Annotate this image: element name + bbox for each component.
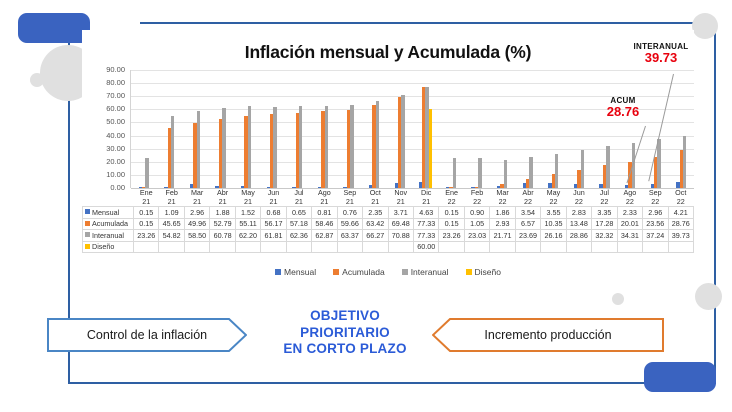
table-cell: 10.35: [541, 218, 566, 230]
objective-banner: Control de la inflación OBJETIVO PRIORIT…: [0, 300, 732, 382]
column-header-year: 21: [337, 197, 362, 207]
table-cell: [184, 241, 209, 253]
legend-label: Acumulada: [342, 267, 385, 277]
table-cell: [210, 241, 235, 253]
table-cell: 70.88: [388, 230, 413, 242]
y-axis: 90.0080.0070.0060.0050.0040.0030.0020.00…: [82, 70, 128, 188]
bar-interanual: [273, 107, 276, 188]
bar-slot: [592, 70, 618, 188]
table-cell: [312, 241, 337, 253]
table-cell: [617, 241, 642, 253]
y-axis-tick: 20.00: [106, 158, 125, 166]
bar-interanual: [504, 160, 507, 188]
bar-interanual: [350, 105, 353, 188]
column-header-year: 22: [668, 197, 693, 207]
table-cell: 32.32: [592, 230, 617, 242]
bar-interanual: [299, 106, 302, 188]
bar-interanual: [581, 150, 584, 188]
legend-swatch-icon: [402, 269, 408, 275]
slide-canvas: Inflación mensual y Acumulada (%) 90.008…: [0, 0, 732, 412]
legend-swatch-icon: [466, 269, 472, 275]
column-header-year: 21: [261, 197, 286, 207]
table-cell: 28.76: [668, 218, 693, 230]
y-axis-tick: 60.00: [106, 105, 125, 113]
table-cell: 0.65: [286, 207, 311, 219]
table-cell: [515, 241, 540, 253]
plot-canvas: [130, 70, 694, 188]
chart-data-table: EneFebMarAbrMayJunJulAgoSepOctNovDicEneF…: [82, 188, 694, 253]
column-header-year: 22: [643, 197, 668, 207]
table-cell: 63.42: [363, 218, 388, 230]
column-header-year: 21: [363, 197, 388, 207]
table-cell: 77.33: [413, 218, 438, 230]
table-cell: 0.15: [134, 218, 159, 230]
table-cell: 2.35: [363, 207, 388, 219]
table-header-month-row: EneFebMarAbrMayJunJulAgoSepOctNovDicEneF…: [83, 188, 694, 197]
table-cell: 45.65: [159, 218, 184, 230]
column-header-month: Jun: [566, 188, 591, 197]
table-cell: 3.54: [515, 207, 540, 219]
bar-interanual: [376, 101, 379, 188]
table-row-label: Diseño: [83, 241, 134, 253]
bar-slot: [438, 70, 464, 188]
y-axis-tick: 50.00: [106, 118, 125, 126]
table-cell: 23.69: [515, 230, 540, 242]
column-header-month: Sep: [337, 188, 362, 197]
table-cell: 20.01: [617, 218, 642, 230]
table-cell: 61.81: [261, 230, 286, 242]
table-header-year-row: 2121212121212121212121212222222222222222…: [83, 197, 694, 207]
table-cell: 62.20: [235, 230, 260, 242]
column-header-month: Dic: [413, 188, 438, 197]
column-header-year: 22: [490, 197, 515, 207]
column-header-month: Oct: [668, 188, 693, 197]
column-header-year: 21: [286, 197, 311, 207]
bar-interanual: [145, 158, 148, 188]
y-axis-tick: 10.00: [106, 171, 125, 179]
column-header-year: 21: [159, 197, 184, 207]
legend-item[interactable]: Diseño: [466, 267, 501, 277]
bar-interanual: [683, 136, 686, 188]
column-header-year: 22: [541, 197, 566, 207]
column-header-year: 22: [617, 197, 642, 207]
corner-tab-top-left: [18, 13, 90, 43]
table-cell: 1.86: [490, 207, 515, 219]
bar-slot: [515, 70, 541, 188]
table-row-label: Mensual: [83, 207, 134, 219]
table-cell: [261, 241, 286, 253]
bar-slot: [336, 70, 362, 188]
annotation-acum-value: 28.76: [590, 105, 656, 119]
table-cell: 3.71: [388, 207, 413, 219]
table-cell: 2.83: [566, 207, 591, 219]
column-header-month: Ene: [134, 188, 159, 197]
table-cell: [159, 241, 184, 253]
table-cell: 66.27: [363, 230, 388, 242]
column-header-month: Mar: [184, 188, 209, 197]
table-cell: 60.78: [210, 230, 235, 242]
column-header-year: 22: [464, 197, 489, 207]
bar-slot: [131, 70, 157, 188]
table-cell: [134, 241, 159, 253]
y-axis-tick: 70.00: [106, 92, 125, 100]
bar-interanual: [325, 106, 328, 188]
control-inflacion-callout[interactable]: Control de la inflación: [47, 318, 247, 352]
frame-top-line: [140, 22, 716, 24]
table-corner-cell: [83, 197, 134, 207]
table-cell: [566, 241, 591, 253]
table-row-label: Acumulada: [83, 218, 134, 230]
legend-label: Diseño: [475, 267, 501, 277]
bar-interanual: [171, 116, 174, 188]
bar-slot: [182, 70, 208, 188]
table-cell: 4.63: [413, 207, 438, 219]
table-cell: [490, 241, 515, 253]
column-header-month: Abr: [210, 188, 235, 197]
bar-slot: [233, 70, 259, 188]
table-cell: 13.48: [566, 218, 591, 230]
table-cell: [643, 241, 668, 253]
table-cell: [541, 241, 566, 253]
table-cell: 56.17: [261, 218, 286, 230]
bar-diseno: [429, 109, 432, 188]
control-inflacion-label: Control de la inflación: [87, 328, 207, 342]
bar-interanual: [401, 95, 404, 188]
y-axis-tick: 80.00: [106, 79, 125, 87]
incremento-produccion-callout[interactable]: Incremento producción: [432, 318, 664, 352]
column-header-year: 21: [413, 197, 438, 207]
table-cell: 21.71: [490, 230, 515, 242]
table-cell: 1.09: [159, 207, 184, 219]
table-cell: 60.00: [413, 241, 438, 253]
table-cell: 34.31: [617, 230, 642, 242]
table-cell: 1.88: [210, 207, 235, 219]
table-cell: 54.82: [159, 230, 184, 242]
decorative-circle-small: [30, 73, 44, 87]
table-row: Diseño60.00: [83, 241, 694, 253]
table-cell: 28.86: [566, 230, 591, 242]
table-cell: 59.66: [337, 218, 362, 230]
legend-swatch-icon: [333, 269, 339, 275]
table-cell: 1.05: [464, 218, 489, 230]
bar-slot: [464, 70, 490, 188]
table-cell: 62.36: [286, 230, 311, 242]
table-cell: 39.73: [668, 230, 693, 242]
table-cell: 6.57: [515, 218, 540, 230]
frame-bottom-line: [68, 382, 716, 384]
bar-group: [131, 70, 694, 188]
bar-slot: [208, 70, 234, 188]
table-cell: 77.33: [413, 230, 438, 242]
column-header-year: 21: [312, 197, 337, 207]
series-swatch-icon: [85, 209, 90, 214]
column-header-month: May: [541, 188, 566, 197]
table-cell: 2.96: [184, 207, 209, 219]
bar-interanual: [529, 157, 532, 188]
table-cell: 58.50: [184, 230, 209, 242]
column-header-month: Oct: [363, 188, 388, 197]
bar-slot: [310, 70, 336, 188]
column-header-month: Nov: [388, 188, 413, 197]
table-cell: 62.87: [312, 230, 337, 242]
table-cell: 23.56: [643, 218, 668, 230]
bar-slot: [643, 70, 669, 188]
series-swatch-icon: [85, 232, 90, 237]
column-header-month: Ago: [312, 188, 337, 197]
table-cell: 69.48: [388, 218, 413, 230]
y-axis-tick: 30.00: [106, 145, 125, 153]
column-header-year: 21: [134, 197, 159, 207]
bar-slot: [489, 70, 515, 188]
annotation-interanual: INTERANUAL 39.73: [616, 42, 706, 65]
column-header-month: Abr: [515, 188, 540, 197]
plot-area: 90.0080.0070.0060.0050.0040.0030.0020.00…: [82, 70, 694, 188]
incremento-produccion-label: Incremento producción: [484, 328, 611, 342]
chart-container: Inflación mensual y Acumulada (%) 90.008…: [82, 30, 694, 292]
table-corner-cell: [83, 188, 134, 197]
objetivo-prioritario-text: OBJETIVO PRIORITARIO EN CORTO PLAZO: [255, 308, 435, 358]
table-cell: 0.68: [261, 207, 286, 219]
objetivo-line-2: PRIORITARIO: [255, 325, 435, 342]
table-cell: 52.79: [210, 218, 235, 230]
table-row: Acumulada0.1545.6549.9652.7955.1156.1757…: [83, 218, 694, 230]
legend-item[interactable]: Mensual: [275, 267, 316, 277]
table-row: Interanual23.2654.8258.5060.7862.2061.81…: [83, 230, 694, 242]
bar-interanual: [248, 106, 251, 188]
column-header-month: Jul: [286, 188, 311, 197]
series-swatch-icon: [85, 221, 90, 226]
table-cell: 37.24: [643, 230, 668, 242]
bar-slot: [668, 70, 694, 188]
legend-item[interactable]: Acumulada: [333, 267, 385, 277]
bar-slot: [541, 70, 567, 188]
column-header-month: May: [235, 188, 260, 197]
legend-swatch-icon: [275, 269, 281, 275]
series-swatch-icon: [85, 244, 90, 249]
column-header-month: Feb: [464, 188, 489, 197]
bar-slot: [387, 70, 413, 188]
table-cell: 0.15: [439, 218, 464, 230]
y-axis-tick: 40.00: [106, 132, 125, 140]
column-header-month: Sep: [643, 188, 668, 197]
table-cell: 0.15: [134, 207, 159, 219]
table-cell: 49.96: [184, 218, 209, 230]
table-cell: 0.90: [464, 207, 489, 219]
table-cell: 2.93: [490, 218, 515, 230]
table-cell: [439, 241, 464, 253]
table-cell: 23.03: [464, 230, 489, 242]
y-axis-tick: 90.00: [106, 66, 125, 74]
table-cell: 0.76: [337, 207, 362, 219]
table-cell: 2.33: [617, 207, 642, 219]
bar-slot: [361, 70, 387, 188]
column-header-month: Feb: [159, 188, 184, 197]
column-header-month: Ago: [617, 188, 642, 197]
objetivo-line-1: OBJETIVO: [255, 308, 435, 325]
table-cell: [388, 241, 413, 253]
table-cell: 3.55: [541, 207, 566, 219]
legend-label: Mensual: [284, 267, 316, 277]
column-header-year: 21: [184, 197, 209, 207]
table-row-label: Interanual: [83, 230, 134, 242]
table-cell: 26.16: [541, 230, 566, 242]
bar-interanual: [555, 154, 558, 188]
table-cell: 3.35: [592, 207, 617, 219]
bar-slot: [259, 70, 285, 188]
chart-legend: MensualAcumuladaInteranualDiseño: [82, 267, 694, 277]
objetivo-line-3: EN CORTO PLAZO: [255, 341, 435, 358]
column-header-month: Mar: [490, 188, 515, 197]
column-header-year: 22: [592, 197, 617, 207]
table-cell: 23.26: [134, 230, 159, 242]
table-cell: 63.37: [337, 230, 362, 242]
table-cell: [235, 241, 260, 253]
table-cell: [363, 241, 388, 253]
table-cell: [337, 241, 362, 253]
column-header-month: Jun: [261, 188, 286, 197]
bar-interanual: [197, 111, 200, 188]
annotation-interanual-value: 39.73: [616, 51, 706, 65]
table-cell: 0.81: [312, 207, 337, 219]
bar-interanual: [453, 158, 456, 188]
annotation-acum: ACUM 28.76: [590, 96, 656, 119]
table-cell: 1.52: [235, 207, 260, 219]
table-cell: [464, 241, 489, 253]
table-cell: 2.96: [643, 207, 668, 219]
column-header-year: 21: [388, 197, 413, 207]
table-cell: 23.26: [439, 230, 464, 242]
table-cell: 4.21: [668, 207, 693, 219]
legend-item[interactable]: Interanual: [402, 267, 449, 277]
column-header-month: Jul: [592, 188, 617, 197]
table-cell: 58.46: [312, 218, 337, 230]
table-cell: 55.11: [235, 218, 260, 230]
decorative-circle-topright: [692, 13, 718, 39]
bar-interanual: [657, 139, 660, 188]
column-header-year: 22: [566, 197, 591, 207]
bar-interanual: [606, 146, 609, 188]
bar-slot: [566, 70, 592, 188]
legend-label: Interanual: [411, 267, 449, 277]
table-row: Mensual0.151.092.961.881.520.680.650.810…: [83, 207, 694, 219]
bar-slot: [285, 70, 311, 188]
chart-title: Inflación mensual y Acumulada (%): [82, 42, 694, 63]
column-header-year: 21: [235, 197, 260, 207]
table-cell: 57.18: [286, 218, 311, 230]
table-cell: [286, 241, 311, 253]
bar-slot: [157, 70, 183, 188]
bar-slot: [413, 70, 439, 188]
column-header-year: 22: [515, 197, 540, 207]
column-header-year: 21: [210, 197, 235, 207]
table-cell: 17.28: [592, 218, 617, 230]
table-cell: [668, 241, 693, 253]
bar-interanual: [478, 158, 481, 188]
table-cell: 0.15: [439, 207, 464, 219]
table-cell: [592, 241, 617, 253]
column-header-year: 22: [439, 197, 464, 207]
bar-interanual: [222, 108, 225, 188]
column-header-month: Ene: [439, 188, 464, 197]
